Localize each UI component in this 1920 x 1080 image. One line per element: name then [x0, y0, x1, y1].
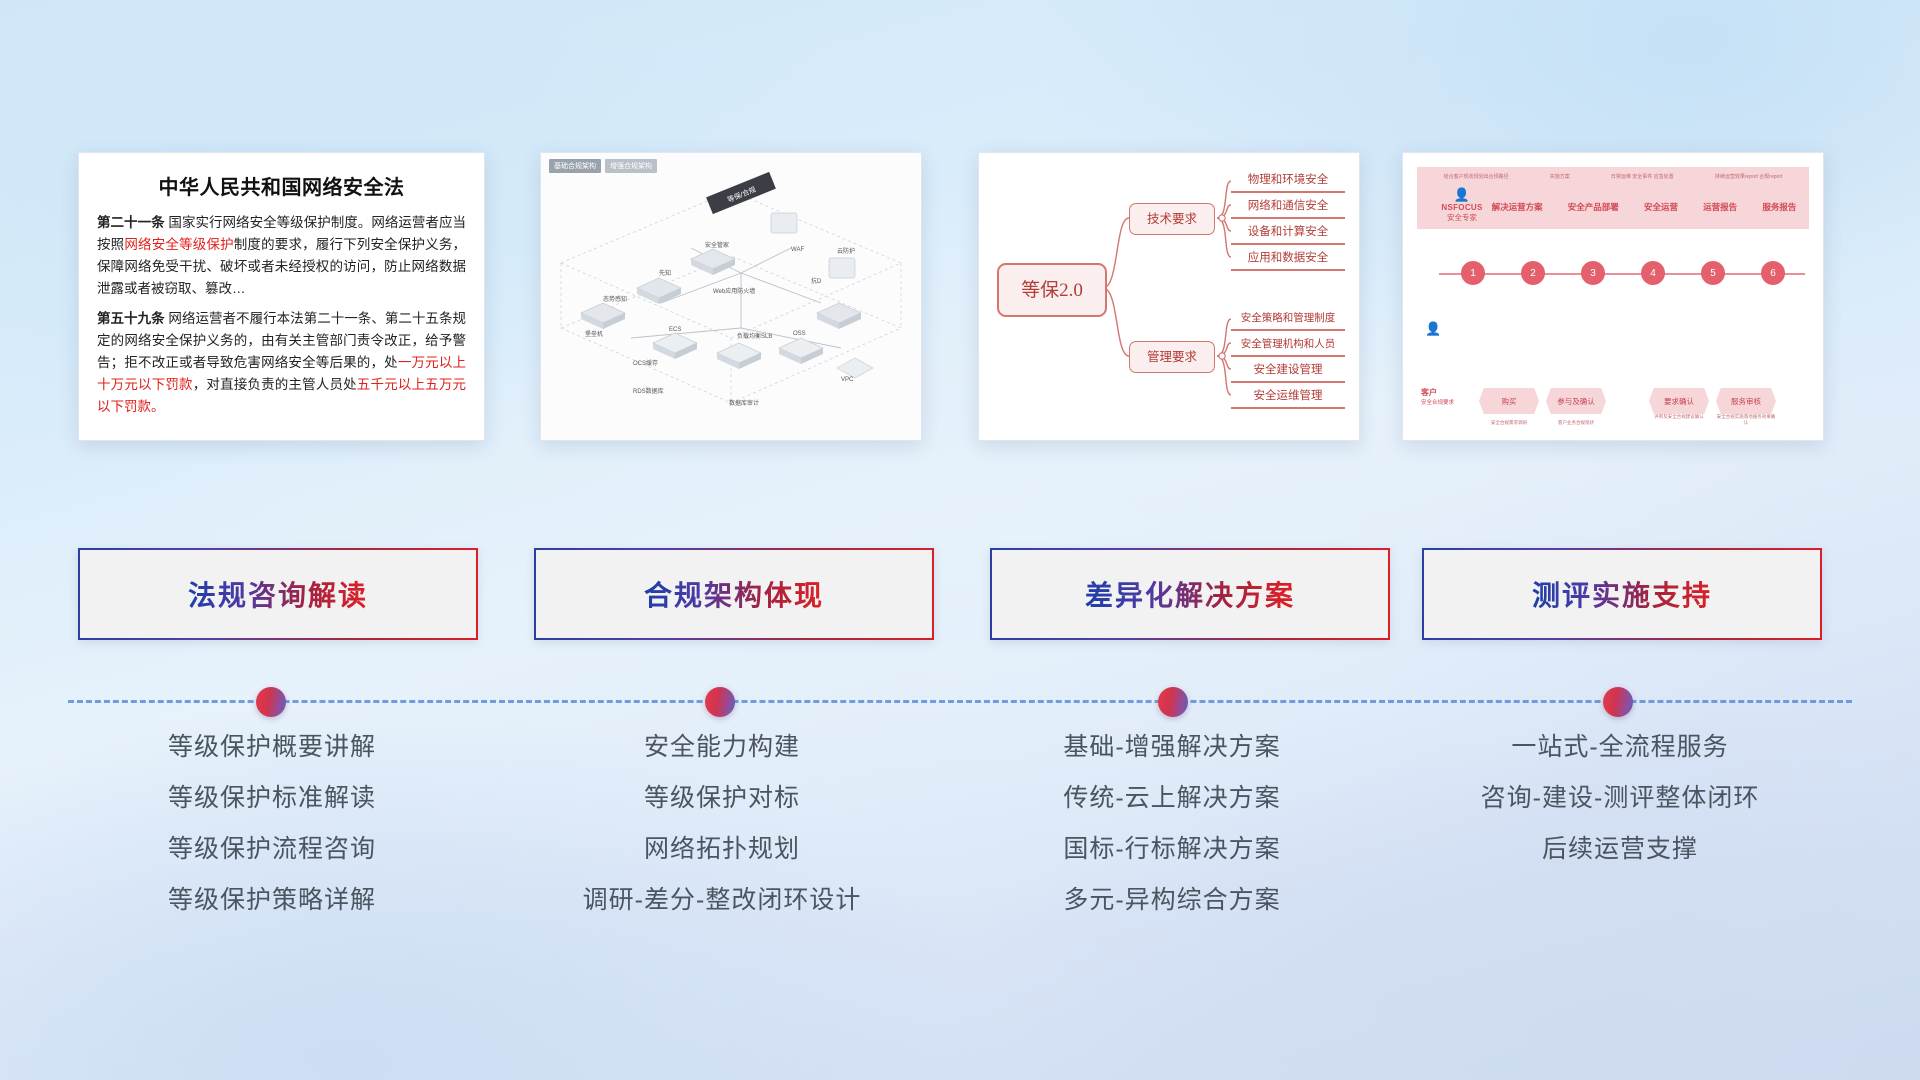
mindmap-leaf-network: 网络和通信安全: [1231, 193, 1345, 219]
arch-node-baolei: 堡垒机: [585, 330, 603, 338]
mindmap-leaf-physical: 物理和环境安全: [1231, 167, 1345, 193]
nsfocus-band-microcaptions: 结合客户现状规划出合规路径 实施方案 日常运维 安全事件 应急处置 持续运营效果…: [1417, 173, 1809, 180]
timeline-dot-2[interactable]: [705, 687, 735, 717]
nsf-macro-4: 服务报告: [1762, 201, 1796, 213]
pillar-title-3: 差异化解决方案: [1085, 574, 1295, 614]
arch-node-oss: OSS: [793, 331, 806, 337]
hex-subcap-0: 安全合规需求调研: [1479, 420, 1539, 426]
mindmap-root-node: 等保2.0: [997, 263, 1107, 317]
nsf-micro-3: 持续运营效果report 合规report: [1715, 173, 1783, 180]
article-59-text-b: ，对直接负责的主管人员处: [193, 377, 357, 392]
list-item: 等级保护流程咨询: [62, 837, 482, 862]
pillar-title-box-1[interactable]: 法规咨询解读: [78, 548, 478, 640]
mindmap-leaf-application: 应用和数据安全: [1231, 245, 1345, 271]
mindmap-branch-technical: 技术要求: [1129, 203, 1215, 235]
nsfocus-step-3: 3: [1581, 261, 1605, 285]
nsfocus-service-band: 结合客户现状规划出合规路径 实施方案 日常运维 安全事件 应急处置 持续运营效果…: [1417, 167, 1809, 229]
mindmap-leaf-operation: 安全运维管理: [1231, 383, 1345, 409]
article-21-label: 第二十一条: [97, 215, 165, 230]
pillar-title-box-3[interactable]: 差异化解决方案: [990, 548, 1390, 640]
pillar-title-box-4[interactable]: 测评实施支持: [1422, 548, 1822, 640]
list-item: 后续运营支撑: [1410, 837, 1830, 862]
hex-review: 服务审核: [1716, 388, 1776, 414]
nsfocus-band-macrolabels: 解决运营方案 安全产品部署 安全运营 运营报告 服务报告: [1479, 201, 1809, 213]
law-body: 中华人民共和国网络安全法 第二十一条 国家实行网络安全等级保护制度。网络运营者应…: [79, 153, 484, 440]
timeline-dot-1[interactable]: [256, 687, 286, 717]
arch-node-vpc: VPC: [841, 377, 854, 383]
list-item: 国标-行标解决方案: [962, 837, 1382, 862]
hex-participate: 参与及确认: [1546, 388, 1606, 414]
hex-subcap-1: 客户业务合规现状: [1546, 420, 1606, 426]
pillar-title-4: 测评实施支持: [1532, 574, 1712, 614]
pillar-title-2: 合规架构体现: [644, 574, 824, 614]
arch-node-webwaf: Web应用防火墙: [713, 287, 755, 295]
arch-node-dbaudit: 数据库审计: [729, 399, 759, 407]
nsfocus-canvas: 结合客户现状规划出合规路径 实施方案 日常运维 安全事件 应急处置 持续运营效果…: [1403, 153, 1823, 440]
mindmap-leaf-device: 设备和计算安全: [1231, 219, 1345, 245]
arch-node-yunfanghu: 云防护: [837, 247, 855, 255]
list-item: 等级保护标准解读: [62, 786, 482, 811]
law-text-card: 中华人民共和国网络安全法 第二十一条 国家实行网络安全等级保护制度。网络运营者应…: [78, 152, 485, 441]
nsf-macro-1: 安全产品部署: [1568, 201, 1619, 213]
pillar-list-1: 等级保护概要讲解 等级保护标准解读 等级保护流程咨询 等级保护策略详解: [62, 735, 482, 939]
nsfocus-axis-line: [1439, 273, 1805, 275]
hex-confirm: 要求确认: [1649, 388, 1709, 414]
list-item: 多元-异构综合方案: [962, 888, 1382, 913]
arch-node-guanjia: 安全管家: [705, 241, 729, 249]
nsfocus-service-card: 结合客户现状规划出合规路径 实施方案 日常运维 安全事件 应急处置 持续运营效果…: [1402, 152, 1824, 441]
list-item: 传统-云上解决方案: [962, 786, 1382, 811]
mindmap-card: 等保2.0 技术要求 管理要求 物理和环境安全 网络和通信安全 设备和计算安全 …: [978, 152, 1360, 441]
client-label-big: 客户: [1421, 387, 1454, 398]
list-item: 咨询-建设-测评整体闭环: [1410, 786, 1830, 811]
arch-node-kangd: 抗D: [811, 277, 822, 285]
nsfocus-step-5: 5: [1701, 261, 1725, 285]
pillar-list-4: 一站式-全流程服务 咨询-建设-测评整体闭环 后续运营支撑: [1410, 735, 1830, 888]
list-item: 调研-差分-整改闭环设计: [512, 888, 932, 913]
hex-purchase: 购买: [1479, 388, 1539, 414]
nsf-macro-3: 运营报告: [1703, 201, 1737, 213]
mindmap-canvas: 等保2.0 技术要求 管理要求 物理和环境安全 网络和通信安全 设备和计算安全 …: [979, 153, 1359, 440]
law-article-21: 第二十一条 国家实行网络安全等级保护制度。网络运营者应当按照网络安全等级保护制度…: [97, 212, 466, 299]
nsfocus-step-2: 2: [1521, 261, 1545, 285]
timeline-dashed-line: [68, 700, 1852, 703]
pillar-detail-row: 等级保护概要讲解 等级保护标准解读 等级保护流程咨询 等级保护策略详解 安全能力…: [0, 735, 1920, 965]
architecture-diagram-card: 基础合规架构 增强合规架构: [540, 152, 922, 441]
client-person-icon: 👤: [1425, 321, 1441, 337]
pillar-title-1: 法规咨询解读: [188, 574, 368, 614]
law-article-59: 第五十九条 网络运营者不履行本法第二十一条、第二十五条规定的网络安全保护义务的，…: [97, 308, 466, 417]
mindmap-leaf-construction: 安全建设管理: [1231, 357, 1345, 383]
nsf-micro-1: 实施方案: [1550, 173, 1570, 180]
architecture-canvas: 基础合规架构 增强合规架构: [541, 153, 921, 440]
nsfocus-hex-group-left: 购买 参与及确认: [1479, 388, 1606, 414]
nsfocus-subcap-group-left: 安全合规需求调研 客户业务合规现状: [1479, 420, 1606, 426]
list-item: 一站式-全流程服务: [1410, 735, 1830, 760]
mindmap-leaf-org: 安全管理机构和人员: [1231, 331, 1345, 357]
list-item: 等级保护对标: [512, 786, 932, 811]
list-item: 安全能力构建: [512, 735, 932, 760]
nsfocus-step-4: 4: [1641, 261, 1665, 285]
mindmap-branch-management: 管理要求: [1129, 341, 1215, 373]
pillar-title-row: 法规咨询解读 合规架构体现 差异化解决方案 测评实施支持: [0, 548, 1920, 648]
timeline-row: [0, 665, 1920, 725]
list-item: 基础-增强解决方案: [962, 735, 1382, 760]
nsf-micro-0: 结合客户现状规划出合规路径: [1444, 173, 1509, 180]
nsfocus-client-label: 客户 安全合规要求: [1421, 387, 1454, 406]
mindmap-leaf-policy: 安全策略和管理制度: [1231, 305, 1345, 331]
law-title: 中华人民共和国网络安全法: [97, 171, 466, 200]
nsfocus-subcap-group-right: 评审及安全合规建议确认 安全合规实施落地服务效果确认: [1649, 414, 1776, 426]
arch-node-waf: WAF: [791, 247, 804, 253]
nsfocus-logo: 👤 NSFOCUS 安全专家: [1435, 187, 1489, 223]
poster-stage: 中华人民共和国网络安全法 第二十一条 国家实行网络安全等级保护制度。网络运营者应…: [0, 0, 1920, 1080]
article-59-label: 第五十九条: [97, 311, 165, 326]
nsfocus-step-1: 1: [1461, 261, 1485, 285]
hex-subcap-2: 评审及安全合规建议确认: [1649, 414, 1709, 426]
timeline-dot-3[interactable]: [1158, 687, 1188, 717]
illustration-card-row: 中华人民共和国网络安全法 第二十一条 国家实行网络安全等级保护制度。网络运营者应…: [0, 0, 1920, 420]
arch-node-slb: 负载均衡SLB: [737, 332, 772, 340]
nsf-micro-2: 日常运维 安全事件 应急处置: [1611, 173, 1674, 180]
pillar-list-2: 安全能力构建 等级保护对标 网络拓扑规划 调研-差分-整改闭环设计: [512, 735, 932, 939]
timeline-dot-4[interactable]: [1603, 687, 1633, 717]
nsf-macro-0: 解决运营方案: [1492, 201, 1543, 213]
pillar-title-box-2[interactable]: 合规架构体现: [534, 548, 934, 640]
arch-node-rds: RDS数据库: [633, 387, 664, 395]
arch-node-xianzhi: 先知: [659, 269, 671, 277]
hex-subcap-3: 安全合规实施落地服务效果确认: [1716, 414, 1776, 426]
nsfocus-logo-line2: 安全专家: [1435, 212, 1489, 223]
client-label-small: 安全合规要求: [1421, 398, 1454, 406]
pillar-list-3: 基础-增强解决方案 传统-云上解决方案 国标-行标解决方案 多元-异构综合方案: [962, 735, 1382, 939]
nsfocus-hex-group-right: 要求确认 服务审核: [1649, 388, 1776, 414]
article-21-highlight: 网络安全等级保护: [124, 237, 233, 252]
list-item: 等级保护策略详解: [62, 888, 482, 913]
arch-node-taishi: 态势感知: [603, 295, 627, 303]
list-item: 网络拓扑规划: [512, 837, 932, 862]
arch-node-ocs: OCS缓存: [633, 359, 658, 367]
nsf-macro-2: 安全运营: [1644, 201, 1678, 213]
expert-person-icon: 👤: [1435, 187, 1489, 203]
architecture-svg: 等保/合规 态势感知 先知 安全管家 堡垒机 ECS 负载均衡SLB OSS V…: [541, 153, 921, 440]
nsfocus-step-6: 6: [1761, 261, 1785, 285]
nsfocus-logo-line1: NSFOCUS: [1435, 203, 1489, 212]
list-item: 等级保护概要讲解: [62, 735, 482, 760]
arch-node-ecs: ECS: [669, 327, 681, 333]
